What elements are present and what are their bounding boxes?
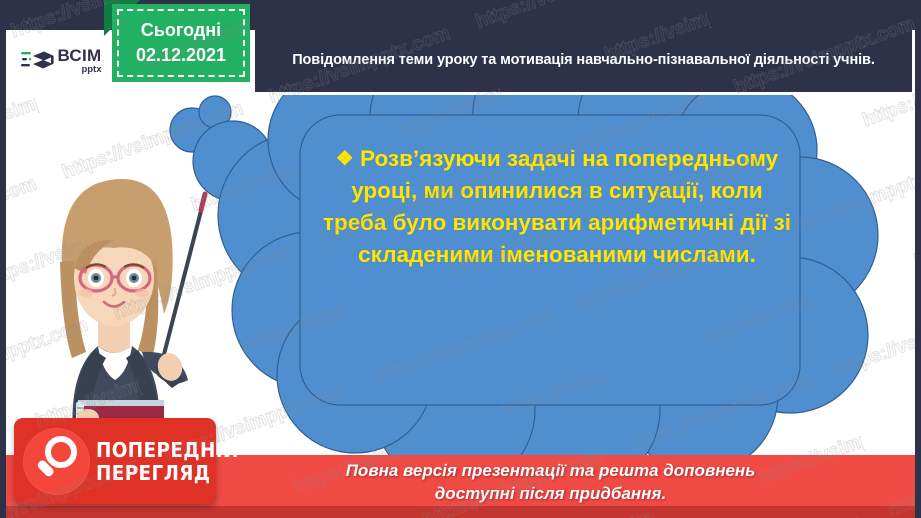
date-badge-label: Сьогодні xyxy=(141,20,221,41)
brand-logo: ВСІМ pptx xyxy=(6,30,116,92)
logo-subtitle: pptx xyxy=(81,65,101,75)
page-title: Повідомлення теми уроку та мотивація нав… xyxy=(292,51,875,70)
frame-right-border xyxy=(915,0,921,518)
cloud-message-text: Розв’язуючи задачі на попередньому уроці… xyxy=(323,146,791,267)
preview-badge[interactable]: ПОПЕРЕДНІЙ ПЕРЕГЛЯД xyxy=(14,418,216,504)
logo-name: ВСІМ xyxy=(58,47,102,64)
date-badge: Сьогодні 02.12.2021 xyxy=(112,4,250,82)
preview-badge-line1: ПОПЕРЕДНІЙ xyxy=(96,440,239,460)
magnifier-icon xyxy=(23,428,90,495)
date-badge-value: 02.12.2021 xyxy=(136,45,226,66)
graduation-cap-icon xyxy=(21,48,55,74)
teacher-illustration xyxy=(30,150,245,450)
frame-left-border xyxy=(0,0,6,518)
header-bar: Повідомлення теми уроку та мотивація нав… xyxy=(255,30,912,92)
preview-badge-line2: ПЕРЕГЛЯД xyxy=(96,463,239,483)
slide-canvas: Повідомлення теми уроку та мотивація нав… xyxy=(0,0,921,518)
diamond-bullet-icon: ❖ xyxy=(336,148,354,170)
purchase-banner-text: Повна версія презентації та решта доповн… xyxy=(166,460,756,504)
purchase-banner-line2: доступні після придбання. xyxy=(346,483,756,505)
purchase-banner-line1: Повна версія презентації та решта доповн… xyxy=(346,460,756,482)
cloud-message: ❖ Розв’язуючи задачі на попередньому уро… xyxy=(322,143,792,271)
purchase-banner-strip xyxy=(6,506,915,518)
